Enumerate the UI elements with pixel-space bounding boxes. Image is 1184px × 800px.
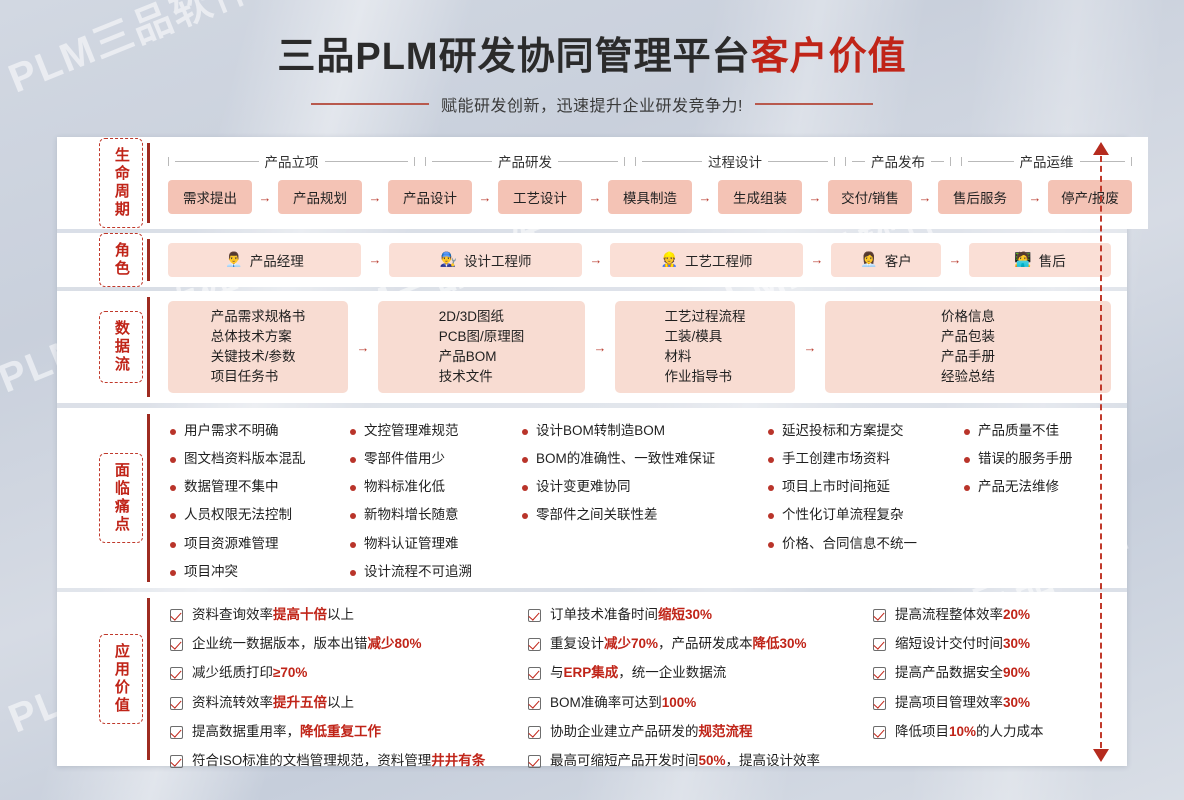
list-item: 个性化订单流程复杂: [768, 506, 958, 524]
dataflow-line: 作业指导书: [665, 367, 746, 387]
row-label-painpoints: 面临痛点: [95, 408, 147, 588]
lifecycle-step-list: 需求提出 → 产品规划 → 产品设计 → 工艺设计 → 模具制造 → 生成组装 …: [164, 171, 1148, 214]
phase-bracket-list: 产品立项 产品研发 过程设计: [164, 137, 1148, 171]
bullet-dot-icon: [964, 485, 970, 491]
checkbox-checked-icon: [170, 638, 183, 651]
row-label-chip: 角色: [99, 233, 143, 287]
phase-label: 过程设计: [708, 151, 762, 171]
value-text: 减少纸质打印≥70%: [192, 664, 307, 682]
value-item: 提高数据重用率，降低重复工作: [170, 723, 522, 741]
lifecycle-step[interactable]: 生成组装: [718, 180, 802, 214]
list-item: 错误的服务手册: [964, 450, 1107, 468]
painpoint-text: 图文档资料版本混乱: [184, 450, 306, 468]
checkbox-checked-icon: [873, 697, 886, 710]
bracket-tick: [414, 157, 415, 166]
value-item: 缩短设计交付时间30%: [873, 635, 1109, 653]
bracket-line: [968, 161, 1014, 162]
arrow-right-icon: →: [348, 340, 378, 355]
lifecycle-step[interactable]: 模具制造: [608, 180, 692, 214]
row-roles: 角色 👨‍💼 产品经理 → 👨‍🔧 设计工程师 →: [57, 233, 1127, 287]
role-avatar-icon: 🧑‍💻: [1014, 251, 1031, 268]
lifecycle-step[interactable]: 产品设计: [388, 180, 472, 214]
bracket-line: [558, 161, 618, 162]
value-item: 降低项目10%的人力成本: [873, 723, 1109, 741]
dataflow-group[interactable]: 产品需求规格书 总体技术方案 关键技术/参数 项目任务书: [168, 301, 348, 393]
list-item: 零部件之间关联性差: [522, 506, 762, 524]
role-item[interactable]: 👨‍🔧 设计工程师: [389, 243, 582, 277]
row-label-text: 应用价值: [113, 643, 129, 715]
list-item: 物料标准化低: [350, 478, 516, 496]
painpoint-text: 文控管理难规范: [364, 422, 459, 440]
list-item: 手工创建市场资料: [768, 450, 958, 468]
bullet-dot-icon: [350, 457, 356, 463]
value-text: 提高产品数据安全90%: [895, 664, 1030, 682]
value-text: 提高项目管理效率30%: [895, 694, 1030, 712]
list-item: 设计流程不可追溯: [350, 563, 516, 581]
checkbox-checked-icon: [873, 726, 886, 739]
role-avatar-icon: 👷: [661, 251, 678, 268]
lifecycle-step[interactable]: 交付/销售: [828, 180, 912, 214]
list-item: 零部件借用少: [350, 450, 516, 468]
value-item: 符合ISO标准的文档管理规范，资料管理井井有条: [170, 752, 522, 770]
role-label: 客户: [885, 250, 912, 270]
bracket-line: [175, 161, 259, 162]
value-text: 订单技术准备时间缩短30%: [550, 606, 712, 624]
bullet-dot-icon: [522, 485, 528, 491]
dataflow-line: 产品包装: [941, 327, 995, 347]
content-grid: 生命周期 产品立项 产品研发: [57, 137, 1127, 766]
painpoint-text: 物料认证管理难: [364, 535, 459, 553]
value-item: 企业统一数据版本，版本出错减少80%: [170, 635, 522, 653]
value-text: 最高可缩短产品开发时间50%，提高设计效率: [550, 752, 820, 770]
value-text: 与ERP集成，统一企业数据流: [550, 664, 726, 682]
row-label-text: 角色: [113, 242, 129, 278]
value-text: 提高流程整体效率20%: [895, 606, 1030, 624]
bullet-dot-icon: [522, 429, 528, 435]
painpoint-text: 产品无法维修: [978, 478, 1059, 496]
role-avatar-icon: 👨‍🔧: [440, 251, 457, 268]
painpoint-text: 项目资源难管理: [184, 535, 279, 553]
painpoint-column: 用户需求不明确 图文档资料版本混乱 数据管理不集中 人员权限无法控制 项目资源难…: [170, 422, 350, 588]
value-text: BOM准确率可达到100%: [550, 694, 696, 712]
page-title: 三品PLM研发协同管理平台客户价值: [0, 36, 1184, 80]
list-item: 图文档资料版本混乱: [170, 450, 344, 468]
painpoint-text: 个性化订单流程复杂: [782, 506, 904, 524]
painpoint-text: 设计BOM转制造BOM: [536, 422, 665, 440]
list-item: 产品质量不佳: [964, 422, 1107, 440]
value-column: 资料查询效率提高十倍以上企业统一数据版本，版本出错减少80%减少纸质打印≥70%…: [170, 606, 528, 766]
painpoint-column: 延迟投标和方案提交 手工创建市场资料 项目上市时间拖延 个性化订单流程复杂 价格…: [768, 422, 964, 588]
dataflow-line: 项目任务书: [211, 367, 306, 387]
bullet-dot-icon: [350, 513, 356, 519]
subtitle-rule-right: [755, 103, 873, 105]
bracket-line: [852, 161, 865, 162]
lifecycle-content: 产品立项 产品研发 过程设计: [164, 137, 1148, 229]
row-painpoints: 面临痛点 用户需求不明确 图文档资料版本混乱 数据管理不集中 人员权限无法控制 …: [57, 408, 1127, 588]
arrow-right-icon: →: [941, 252, 969, 267]
painpoint-text: 项目上市时间拖延: [782, 478, 890, 496]
phase-bracket: 产品研发: [425, 151, 625, 171]
value-text: 降低项目10%的人力成本: [895, 723, 1044, 741]
row-label-dataflow: 数据流: [95, 291, 147, 403]
bracket-tick: [635, 157, 636, 166]
list-item: 物料认证管理难: [350, 535, 516, 553]
dataflow-line: 关键技术/参数: [211, 347, 306, 367]
row-label-chip: 面临痛点: [99, 453, 143, 543]
value-text: 资料查询效率提高十倍以上: [192, 606, 354, 624]
role-avatar-icon: 👩‍💼: [860, 251, 877, 268]
value-text: 缩短设计交付时间30%: [895, 635, 1030, 653]
role-item[interactable]: 👨‍💼 产品经理: [168, 243, 361, 277]
row-divider-bar: [147, 297, 150, 397]
page-header: 三品PLM研发协同管理平台客户价值 赋能研发创新，迅速提升企业研发竞争力!: [0, 36, 1184, 116]
role-label: 工艺工程师: [685, 250, 753, 270]
subtitle-rule-left: [311, 103, 429, 105]
dataflow-line: 总体技术方案: [211, 327, 306, 347]
row-value-body: 应用价值 资料查询效率提高十倍以上企业统一数据版本，版本出错减少80%减少纸质打…: [57, 592, 1127, 766]
painpoint-text: 新物料增长随意: [364, 506, 459, 524]
arrow-right-icon: →: [252, 190, 278, 205]
bracket-tick: [425, 157, 426, 166]
arrow-down-icon: [1093, 749, 1109, 762]
bullet-dot-icon: [522, 513, 528, 519]
arrow-right-icon: →: [692, 190, 718, 205]
phase-label: 产品立项: [265, 151, 319, 171]
value-item: 协助企业建立产品研发的规范流程: [528, 723, 867, 741]
row-lifecycle: 生命周期 产品立项 产品研发: [57, 137, 1127, 229]
value-text: 协助企业建立产品研发的规范流程: [550, 723, 753, 741]
bracket-tick: [845, 157, 846, 166]
checkbox-checked-icon: [170, 726, 183, 739]
dataflow-list: 产品需求规格书 总体技术方案 关键技术/参数 项目任务书 → 2D/3D图纸 P…: [164, 291, 1127, 403]
value-text: 资料流转效率提升五倍以上: [192, 694, 354, 712]
row-divider-bar: [147, 143, 150, 223]
value-column: 提高流程整体效率20%缩短设计交付时间30%提高产品数据安全90%提高项目管理效…: [873, 606, 1115, 766]
value-column: 订单技术准备时间缩短30%重复设计减少70%，产品研发成本降低30%与ERP集成…: [528, 606, 873, 766]
page-title-main: 三品PLM研发协同管理平台: [277, 36, 750, 78]
value-item: BOM准确率可达到100%: [528, 694, 867, 712]
dataflow-lines: 价格信息 产品包装 产品手册 经验总结: [941, 307, 995, 387]
bullet-dot-icon: [170, 542, 176, 548]
checkbox-checked-icon: [873, 609, 886, 622]
value-item: 订单技术准备时间缩短30%: [528, 606, 867, 624]
arrow-right-icon: →: [585, 340, 615, 355]
painpoint-text: 用户需求不明确: [184, 422, 279, 440]
row-roles-body: 角色 👨‍💼 产品经理 → 👨‍🔧 设计工程师 →: [57, 233, 1127, 287]
row-divider-bar: [147, 239, 150, 281]
painpoint-text: 零部件之间关联性差: [536, 506, 658, 524]
dataflow-line: 工艺过程流程: [665, 307, 746, 327]
list-item: BOM的准确性、一致性难保证: [522, 450, 762, 468]
bracket-tick: [950, 157, 951, 166]
list-item: 数据管理不集中: [170, 478, 344, 496]
bullet-dot-icon: [768, 429, 774, 435]
checkbox-checked-icon: [170, 755, 183, 768]
arrow-right-icon: →: [362, 190, 388, 205]
list-item: 延迟投标和方案提交: [768, 422, 958, 440]
checkbox-checked-icon: [528, 667, 541, 680]
dataflow-lines: 2D/3D图纸 PCB图/原理图 产品BOM 技术文件: [439, 307, 525, 387]
lifecycle-step[interactable]: 工艺设计: [498, 180, 582, 214]
checkbox-checked-icon: [170, 667, 183, 680]
phase-label: 产品发布: [871, 151, 925, 171]
painpoint-text: 手工创建市场资料: [782, 450, 890, 468]
dataflow-line: 产品手册: [941, 347, 995, 367]
row-lifecycle-body: 生命周期 产品立项 产品研发: [57, 137, 1148, 229]
bracket-line: [931, 161, 944, 162]
value-item: 资料查询效率提高十倍以上: [170, 606, 522, 624]
painpoint-text: 延迟投标和方案提交: [782, 422, 904, 440]
painpoint-text: 项目冲突: [184, 563, 238, 581]
list-item: 用户需求不明确: [170, 422, 344, 440]
value-item: 提高项目管理效率30%: [873, 694, 1109, 712]
dataflow-group[interactable]: 价格信息 产品包装 产品手册 经验总结: [825, 301, 1111, 393]
row-label-value: 应用价值: [95, 592, 147, 766]
row-label-chip: 数据流: [99, 311, 143, 383]
arrow-right-icon: →: [472, 190, 498, 205]
list-item: 产品无法维修: [964, 478, 1107, 496]
checkbox-checked-icon: [528, 697, 541, 710]
arrow-right-icon: →: [582, 252, 610, 267]
painpoint-text: 价格、合同信息不统一: [782, 535, 917, 553]
dataflow-line: 产品BOM: [439, 347, 525, 367]
bracket-tick: [961, 157, 962, 166]
value-text: 企业统一数据版本，版本出错减少80%: [192, 635, 422, 653]
list-item: 价格、合同信息不统一: [768, 535, 958, 553]
bracket-line: [432, 161, 492, 162]
value-item: 资料流转效率提升五倍以上: [170, 694, 522, 712]
list-item: 设计BOM转制造BOM: [522, 422, 762, 440]
painpoint-text: 设计变更难协同: [536, 478, 631, 496]
bullet-dot-icon: [170, 570, 176, 576]
arrow-right-icon: →: [361, 252, 389, 267]
subtitle-row: 赋能研发创新，迅速提升企业研发竞争力!: [0, 92, 1184, 116]
dataflow-line: 经验总结: [941, 367, 995, 387]
bracket-line: [325, 161, 409, 162]
painpoint-column: 设计BOM转制造BOM BOM的准确性、一致性难保证 设计变更难协同 零部件之间…: [522, 422, 768, 588]
painpoint-text: 物料标准化低: [364, 478, 445, 496]
list-item: 设计变更难协同: [522, 478, 762, 496]
bracket-tick: [624, 157, 625, 166]
content-card: 生命周期 产品立项 产品研发: [57, 137, 1127, 766]
dataflow-line: 材料: [665, 347, 746, 367]
row-label-text: 数据流: [113, 320, 129, 374]
list-item: 项目冲突: [170, 563, 344, 581]
bullet-dot-icon: [350, 570, 356, 576]
value-item: 与ERP集成，统一企业数据流: [528, 664, 867, 682]
checkbox-checked-icon: [528, 638, 541, 651]
role-item[interactable]: 👷 工艺工程师: [610, 243, 803, 277]
value-text: 提高数据重用率，降低重复工作: [192, 723, 381, 741]
value-item: 提高流程整体效率20%: [873, 606, 1109, 624]
painpoint-text: 零部件借用少: [364, 450, 445, 468]
dataflow-line: PCB图/原理图: [439, 327, 525, 347]
painpoint-text: 设计流程不可追溯: [364, 563, 472, 581]
role-item[interactable]: 👩‍💼 客户: [831, 243, 941, 277]
checkbox-checked-icon: [528, 755, 541, 768]
row-value: 应用价值 资料查询效率提高十倍以上企业统一数据版本，版本出错减少80%减少纸质打…: [57, 592, 1127, 766]
arrow-right-icon: →: [802, 190, 828, 205]
lifecycle-step[interactable]: 售后服务: [938, 180, 1022, 214]
list-item: 项目上市时间拖延: [768, 478, 958, 496]
list-item: 项目资源难管理: [170, 535, 344, 553]
dataflow-lines: 工艺过程流程 工装/模具 材料 作业指导书: [665, 307, 746, 387]
phase-bracket: 过程设计: [635, 151, 835, 171]
arrow-right-icon: →: [912, 190, 938, 205]
bullet-dot-icon: [170, 485, 176, 491]
dataflow-line: 产品需求规格书: [211, 307, 306, 327]
bracket-tick: [1131, 157, 1132, 166]
page-subtitle: 赋能研发创新，迅速提升企业研发竞争力!: [441, 92, 743, 116]
bracket-line: [642, 161, 702, 162]
bullet-dot-icon: [768, 542, 774, 548]
bullet-dot-icon: [768, 457, 774, 463]
row-label-roles: 角色: [95, 233, 147, 287]
value-item: 重复设计减少70%，产品研发成本降低30%: [528, 635, 867, 653]
role-label: 设计工程师: [464, 250, 532, 270]
dataflow-line: 工装/模具: [665, 327, 746, 347]
bullet-dot-icon: [964, 429, 970, 435]
row-label-lifecycle: 生命周期: [95, 137, 147, 229]
bullet-dot-icon: [522, 457, 528, 463]
phase-bracket: 产品发布: [845, 151, 951, 171]
role-list: 👨‍💼 产品经理 → 👨‍🔧 设计工程师 → 👷 工艺工程师 →: [164, 233, 1127, 287]
bullet-dot-icon: [350, 485, 356, 491]
row-divider-bar: [147, 414, 150, 582]
role-avatar-icon: 👨‍💼: [225, 251, 242, 268]
phase-label: 产品研发: [498, 151, 552, 171]
list-item: 文控管理难规范: [350, 422, 516, 440]
painpoint-text: 错误的服务手册: [978, 450, 1073, 468]
row-label-chip: 应用价值: [99, 634, 143, 724]
lifecycle-step[interactable]: 需求提出: [168, 180, 252, 214]
value-text: 重复设计减少70%，产品研发成本降低30%: [550, 635, 807, 653]
bullet-dot-icon: [350, 429, 356, 435]
phase-label: 产品运维: [1020, 151, 1074, 171]
dataflow-group[interactable]: 2D/3D图纸 PCB图/原理图 产品BOM 技术文件: [378, 301, 585, 393]
row-dataflow: 数据流 产品需求规格书 总体技术方案 关键技术/参数 项目任务书 →: [57, 291, 1127, 403]
role-label: 售后: [1039, 250, 1066, 270]
arrow-right-icon: →: [582, 190, 608, 205]
painpoint-text: 产品质量不佳: [978, 422, 1059, 440]
painpoint-text: 人员权限无法控制: [184, 506, 292, 524]
checkbox-checked-icon: [170, 697, 183, 710]
checkbox-checked-icon: [170, 609, 183, 622]
bracket-tick: [168, 157, 169, 166]
phase-bracket: 产品立项: [168, 151, 415, 171]
checkbox-checked-icon: [873, 638, 886, 651]
row-divider-bar: [147, 598, 150, 760]
dataflow-line: 技术文件: [439, 367, 525, 387]
row-label-chip: 生命周期: [99, 138, 143, 228]
dataflow-group[interactable]: 工艺过程流程 工装/模具 材料 作业指导书: [615, 301, 795, 393]
painpoint-column: 文控管理难规范 零部件借用少 物料标准化低 新物料增长随意 物料认证管理难 设计…: [350, 422, 522, 588]
row-painpoints-body: 面临痛点 用户需求不明确 图文档资料版本混乱 数据管理不集中 人员权限无法控制 …: [57, 408, 1127, 588]
dashed-line: [1100, 156, 1102, 748]
checkbox-checked-icon: [528, 726, 541, 739]
bullet-dot-icon: [170, 429, 176, 435]
painpoint-text: BOM的准确性、一致性难保证: [536, 450, 715, 468]
arrow-right-icon: →: [1022, 190, 1048, 205]
role-label: 产品经理: [250, 250, 304, 270]
list-item: 新物料增长随意: [350, 506, 516, 524]
dataflow-line: 2D/3D图纸: [439, 307, 525, 327]
vertical-flow-arrow: [1090, 142, 1112, 762]
value-text: 符合ISO标准的文档管理规范，资料管理井井有条: [192, 752, 485, 770]
painpoint-columns: 用户需求不明确 图文档资料版本混乱 数据管理不集中 人员权限无法控制 项目资源难…: [164, 408, 1127, 588]
value-columns: 资料查询效率提高十倍以上企业统一数据版本，版本出错减少80%减少纸质打印≥70%…: [164, 592, 1127, 766]
list-item: 人员权限无法控制: [170, 506, 344, 524]
value-item: 减少纸质打印≥70%: [170, 664, 522, 682]
arrow-right-icon: →: [803, 252, 831, 267]
value-item: 最高可缩短产品开发时间50%，提高设计效率: [528, 752, 867, 770]
dataflow-line: 价格信息: [941, 307, 995, 327]
arrow-up-icon: [1093, 142, 1109, 155]
value-item: 提高产品数据安全90%: [873, 664, 1109, 682]
dataflow-lines: 产品需求规格书 总体技术方案 关键技术/参数 项目任务书: [211, 307, 306, 387]
row-dataflow-body: 数据流 产品需求规格书 总体技术方案 关键技术/参数 项目任务书 →: [57, 291, 1127, 403]
arrow-right-icon: →: [795, 340, 825, 355]
page-title-highlight: 客户价值: [751, 36, 907, 78]
bullet-dot-icon: [768, 485, 774, 491]
row-label-text: 面临痛点: [113, 462, 129, 534]
lifecycle-step[interactable]: 产品规划: [278, 180, 362, 214]
bullet-dot-icon: [170, 513, 176, 519]
row-label-text: 生命周期: [113, 147, 129, 219]
bracket-tick: [834, 157, 835, 166]
checkbox-checked-icon: [873, 667, 886, 680]
bullet-dot-icon: [170, 457, 176, 463]
bullet-dot-icon: [964, 457, 970, 463]
bullet-dot-icon: [350, 542, 356, 548]
bracket-line: [768, 161, 828, 162]
bullet-dot-icon: [768, 513, 774, 519]
checkbox-checked-icon: [528, 609, 541, 622]
painpoint-text: 数据管理不集中: [184, 478, 279, 496]
